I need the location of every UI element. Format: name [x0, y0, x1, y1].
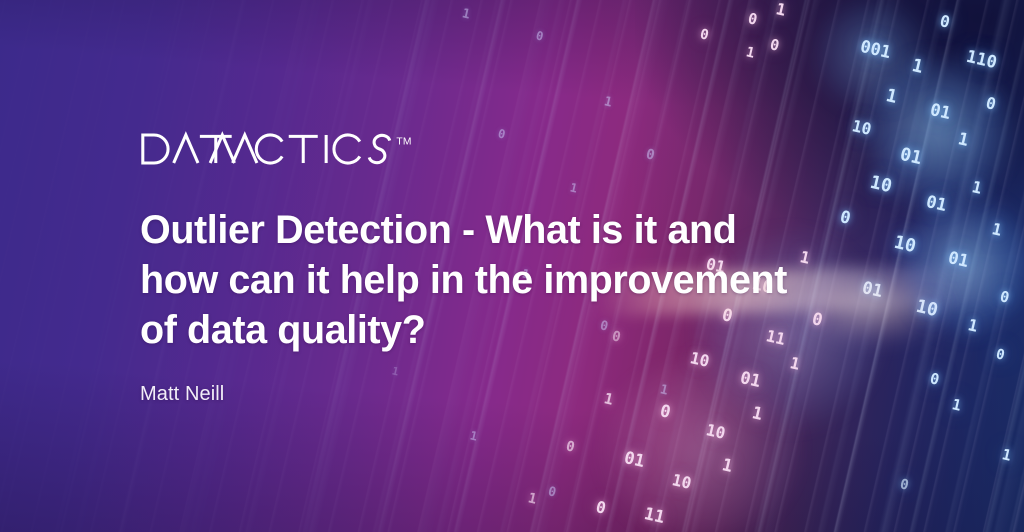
headline-line-3: of data quality?: [140, 305, 830, 355]
datactics-logo[interactable]: TM: [140, 120, 430, 178]
trademark-symbol: TM: [396, 136, 411, 147]
hero-content: TM Outlier Detection - What is it and ho…: [140, 0, 840, 532]
author-byline: Matt Neill: [140, 383, 224, 406]
headline-line-1: Outlier Detection - What is it and: [140, 205, 830, 255]
page-title: Outlier Detection - What is it and how c…: [140, 205, 830, 355]
blog-hero-banner: 1 0 1 0 1 0 1 0 1 0 1 1 0 1 0 1 0 001 1 …: [0, 0, 1024, 532]
headline-line-2: how can it help in the improvement: [140, 255, 830, 305]
